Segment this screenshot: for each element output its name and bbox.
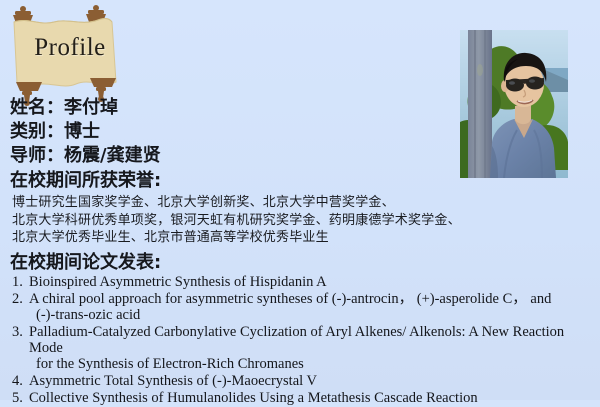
publication-title-line2: (-)-trans-ozic acid bbox=[29, 307, 598, 323]
publication-number: 5. bbox=[12, 390, 29, 406]
publication-title-line2: for the Synthesis of Electron-Rich Chrom… bbox=[29, 356, 598, 372]
scroll-banner: Profile bbox=[6, 4, 134, 106]
publication-item: 3. Palladium-Catalyzed Carbonylative Cyc… bbox=[12, 324, 598, 372]
honors-heading: 在校期间所获荣誉: bbox=[10, 170, 161, 192]
publications-heading: 在校期间论文发表: bbox=[10, 252, 161, 274]
portrait-photo bbox=[460, 30, 568, 178]
publication-title-line1: Palladium-Catalyzed Carbonylative Cycliz… bbox=[29, 324, 564, 356]
publications-list: 1. Bioinspired Asymmetric Synthesis of H… bbox=[12, 274, 598, 407]
publication-number: 4. bbox=[12, 373, 29, 389]
publication-title-line1: A chiral pool approach for asymmetric sy… bbox=[29, 291, 551, 307]
info-category: 类别：博士 bbox=[10, 120, 470, 144]
info-advisor: 导师：杨震/龚建贤 bbox=[10, 144, 470, 168]
publication-item: 5. Collective Synthesis of Humulanolides… bbox=[12, 390, 598, 406]
publication-title: Collective Synthesis of Humulanolides Us… bbox=[29, 390, 598, 406]
banner-title: Profile bbox=[6, 34, 134, 62]
info-name: 姓名：李付琸 bbox=[10, 96, 470, 120]
publication-number: 2. bbox=[12, 291, 29, 323]
publication-item: 2. A chiral pool approach for asymmetric… bbox=[12, 291, 598, 323]
honors-list: 博士研究生国家奖学金、北京大学创新奖、北京大学中营奖学金、 北京大学科研优秀单项… bbox=[12, 194, 592, 247]
publication-number: 3. bbox=[12, 324, 29, 372]
publication-title: Bioinspired Asymmetric Synthesis of Hisp… bbox=[29, 274, 598, 290]
honors-line: 博士研究生国家奖学金、北京大学创新奖、北京大学中营奖学金、 bbox=[12, 194, 592, 212]
publication-item: 4. Asymmetric Total Synthesis of (-)-Mao… bbox=[12, 373, 598, 389]
publication-title: Asymmetric Total Synthesis of (-)-Maoecr… bbox=[29, 373, 598, 389]
publication-number: 1. bbox=[12, 274, 29, 290]
profile-page: Profile bbox=[0, 0, 600, 400]
honors-line: 北京大学科研优秀单项奖，银河天虹有机研究奖学金、药明康德学术奖学金、 bbox=[12, 212, 592, 230]
publication-title: A chiral pool approach for asymmetric sy… bbox=[29, 291, 598, 323]
portrait-photo-image bbox=[460, 30, 568, 178]
basic-info: 姓名：李付琸 类别：博士 导师：杨震/龚建贤 bbox=[10, 96, 470, 168]
honors-line: 北京大学优秀毕业生、北京市普通高等学校优秀毕业生 bbox=[12, 229, 592, 247]
publication-title: Palladium-Catalyzed Carbonylative Cycliz… bbox=[29, 324, 598, 372]
publication-item: 1. Bioinspired Asymmetric Synthesis of H… bbox=[12, 274, 598, 290]
